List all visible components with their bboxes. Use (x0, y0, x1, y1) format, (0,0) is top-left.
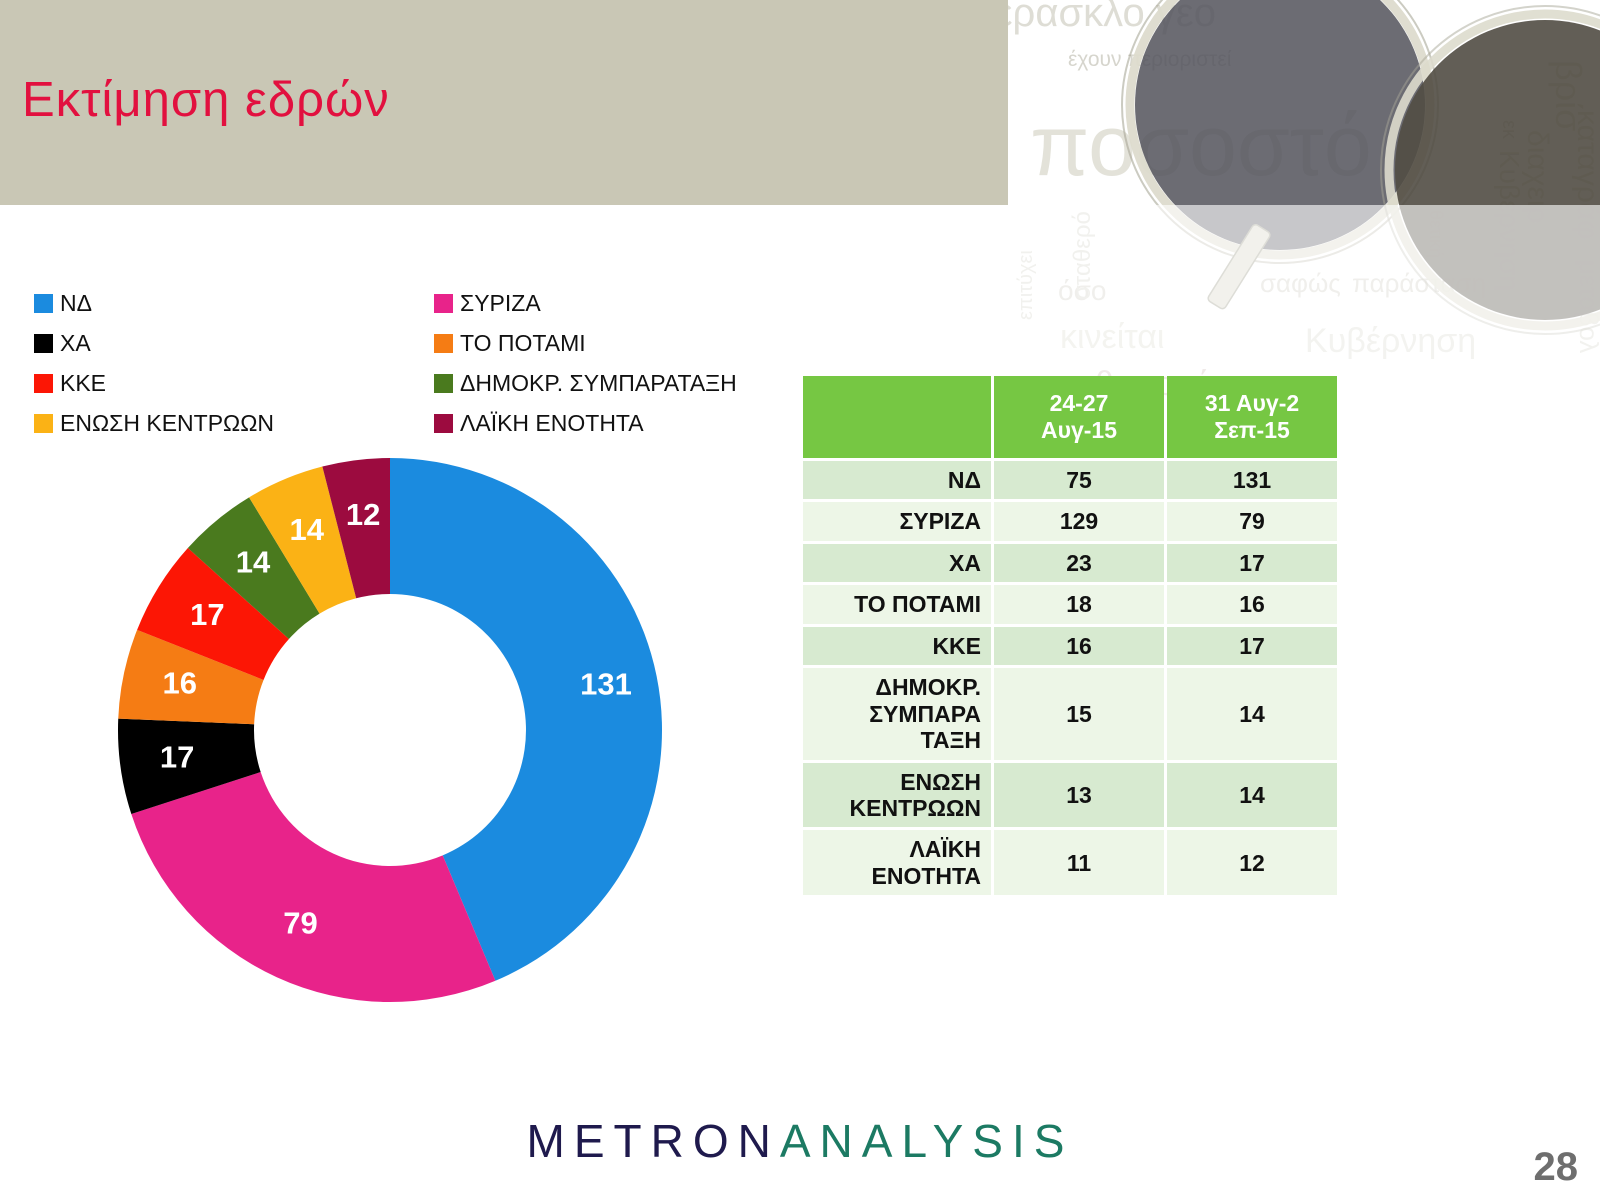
table-cell-party: ΧΑ (803, 544, 991, 582)
seats-comparison-table: 24-27 Αυγ-15 31 Αυγ-2 Σεπ-15 ΝΔ75131ΣΥΡΙ… (800, 373, 1340, 898)
table-cell-period-2: 17 (1167, 544, 1337, 582)
table-cell-party: ΤΟ ΠΟΤΑΜΙ (803, 585, 991, 623)
table-row: ΧΑ2317 (803, 544, 1337, 582)
table-cell-party: ΕΝΩΣΗΚΕΝΤΡΩΩΝ (803, 763, 991, 828)
svg-text:σταθερό: σταθερό (1069, 211, 1096, 300)
page-number: 28 (1534, 1145, 1579, 1190)
table-row: ΚΚΕ1617 (803, 627, 1337, 665)
chart-legend: ΝΔ ΣΥΡΙΖΑ ΧΑ ΤΟ ΠΟΤΑΜΙ ΚΚΕ ΔΗΜΟΚΡ. ΣΥΜΠΑ… (34, 283, 794, 443)
table-cell-period-2: 12 (1167, 830, 1337, 895)
svg-text:βρίσ: βρίσ (1548, 60, 1589, 131)
table-header-row: 24-27 Αυγ-15 31 Αυγ-2 Σεπ-15 (803, 376, 1337, 458)
table-row: ΣΥΡΙΖΑ12979 (803, 502, 1337, 540)
table-cell-period-1: 13 (994, 763, 1164, 828)
legend-swatch-icon (34, 414, 53, 433)
legend-swatch-icon (34, 334, 53, 353)
svg-text:διαχειρ: διαχειρ (1521, 130, 1554, 224)
svg-text:όσο: όσο (1058, 275, 1106, 306)
table-cell-party: ΝΔ (803, 461, 991, 499)
legend-label: ΝΔ (60, 292, 92, 315)
table-cell-party: ΔΗΜΟΚΡ.ΣΥΜΠΑΡΑΤΑΞΗ (803, 668, 991, 759)
header-line-1: 31 Αυγ-2 (1205, 390, 1299, 416)
header-line-2: Σεπ-15 (1214, 417, 1290, 443)
legend-row: ΕΝΩΣΗ ΚΕΝΤΡΩΩΝ ΛΑΪΚΗ ΕΝΟΤΗΤΑ (34, 403, 794, 443)
svg-text:σαφώς: σαφώς (1260, 268, 1341, 298)
table-header-period-2: 31 Αυγ-2 Σεπ-15 (1167, 376, 1337, 458)
table-row: ΛΑΪΚΗΕΝΟΤΗΤΑ1112 (803, 830, 1337, 895)
table-cell-period-1: 75 (994, 461, 1164, 499)
legend-item-syriza[interactable]: ΣΥΡΙΖΑ (434, 292, 541, 315)
svg-text:κινείται: κινείται (1060, 318, 1164, 356)
table-row: ΕΝΩΣΗΚΕΝΤΡΩΩΝ1314 (803, 763, 1337, 828)
table-cell-period-1: 16 (994, 627, 1164, 665)
table-cell-party: ΚΚΕ (803, 627, 991, 665)
legend-label: ΔΗΜΟΚΡ. ΣΥΜΠΑΡΑΤΑΞΗ (460, 372, 737, 395)
legend-swatch-icon (34, 294, 53, 313)
donut-slice-label: 17 (190, 597, 224, 632)
legend-label: ΛΑΪΚΗ ΕΝΟΤΗΤΑ (460, 412, 644, 435)
legend-label: ΧΑ (60, 332, 91, 355)
svg-text:καταγράφ: καταγράφ (1571, 110, 1600, 240)
donut-slice-label: 131 (580, 667, 632, 702)
table-row: ΝΔ75131 (803, 461, 1337, 499)
svg-text:ποσοστό: ποσοστό (1030, 98, 1372, 194)
legend-swatch-icon (434, 294, 453, 313)
legend-item-kke[interactable]: ΚΚΕ (34, 372, 434, 395)
table-cell-party: ΛΑΪΚΗΕΝΟΤΗΤΑ (803, 830, 991, 895)
legend-swatch-icon (34, 374, 53, 393)
svg-text:παράσταση: παράσταση (1352, 268, 1486, 298)
table-row: ΤΟ ΠΟΤΑΜΙ1816 (803, 585, 1337, 623)
donut-slice-label: 79 (283, 906, 317, 941)
table-row: ΔΗΜΟΚΡ.ΣΥΜΠΑΡΑΤΑΞΗ1514 (803, 668, 1337, 759)
donut-slice-label: 12 (346, 497, 380, 532)
decorative-watermark: Σέρασκλο γεο έχουν περιοριστεί ποσοστό ό… (960, 0, 1600, 420)
table-cell-period-2: 131 (1167, 461, 1337, 499)
table-cell-period-1: 15 (994, 668, 1164, 759)
legend-item-nd[interactable]: ΝΔ (34, 292, 434, 315)
legend-item-dimokr-symparataxi[interactable]: ΔΗΜΟΚΡ. ΣΥΜΠΑΡΑΤΑΞΗ (434, 372, 737, 395)
legend-row: ΝΔ ΣΥΡΙΖΑ (34, 283, 794, 323)
svg-text:Κυβέρνηση: Κυβέρνηση (1305, 322, 1476, 360)
metron-analysis-logo: METRONANALYSIS (0, 1114, 1600, 1168)
donut-slice-label: 14 (236, 545, 271, 580)
table-cell-period-2: 14 (1167, 763, 1337, 828)
header-line-2: Αυγ-15 (1041, 417, 1117, 443)
donut-slice-label: 16 (163, 665, 197, 700)
table-header-period-1: 24-27 Αυγ-15 (994, 376, 1164, 458)
table-cell-period-1: 11 (994, 830, 1164, 895)
svg-text:εκ: εκ (1498, 120, 1520, 140)
legend-swatch-icon (434, 414, 453, 433)
table-cell-period-2: 17 (1167, 627, 1337, 665)
legend-label: ΚΚΕ (60, 372, 106, 395)
table-cell-party: ΣΥΡΙΖΑ (803, 502, 991, 540)
legend-swatch-icon (434, 334, 453, 353)
header-line-1: 24-27 (1050, 390, 1109, 416)
table-cell-period-1: 129 (994, 502, 1164, 540)
table-cell-period-2: 16 (1167, 585, 1337, 623)
legend-item-to-potami[interactable]: ΤΟ ΠΟΤΑΜΙ (434, 332, 586, 355)
table-cell-period-2: 14 (1167, 668, 1337, 759)
legend-row: ΚΚΕ ΔΗΜΟΚΡ. ΣΥΜΠΑΡΑΤΑΞΗ (34, 363, 794, 403)
legend-item-enosi-kentroon[interactable]: ΕΝΩΣΗ ΚΕΝΤΡΩΩΝ (34, 412, 434, 435)
legend-label: ΣΥΡΙΖΑ (460, 292, 541, 315)
legend-label: ΕΝΩΣΗ ΚΕΝΤΡΩΩΝ (60, 412, 274, 435)
legend-item-laiki-enotita[interactable]: ΛΑΪΚΗ ΕΝΟΤΗΤΑ (434, 412, 644, 435)
svg-text:μεταβολ: μεταβολ (1574, 260, 1600, 353)
svg-text:έχουν περιοριστεί: έχουν περιοριστεί (1068, 48, 1232, 71)
svg-text:επιτύχει: επιτύχει (1015, 250, 1037, 320)
table-header-corner (803, 376, 991, 458)
donut-slice[interactable] (131, 772, 495, 1002)
donut-slice-label: 14 (289, 512, 324, 547)
svg-text:θετική: θετική (1426, 210, 1446, 258)
legend-row: ΧΑ ΤΟ ΠΟΤΑΜΙ (34, 323, 794, 363)
donut-slice-label: 17 (160, 739, 194, 774)
seats-donut-chart: 13179171617141412 (80, 438, 700, 1023)
page-title: Εκτίμηση εδρών (22, 72, 390, 128)
logo-metron: METRON (527, 1115, 780, 1167)
legend-swatch-icon (434, 374, 453, 393)
svg-text:Κυβέρνηση: Κυβέρνηση (1494, 150, 1525, 291)
legend-item-xa[interactable]: ΧΑ (34, 332, 434, 355)
table-cell-period-2: 79 (1167, 502, 1337, 540)
legend-label: ΤΟ ΠΟΤΑΜΙ (460, 332, 586, 355)
table-cell-period-1: 18 (994, 585, 1164, 623)
table-cell-period-1: 23 (994, 544, 1164, 582)
logo-analysis: ANALYSIS (780, 1115, 1074, 1167)
